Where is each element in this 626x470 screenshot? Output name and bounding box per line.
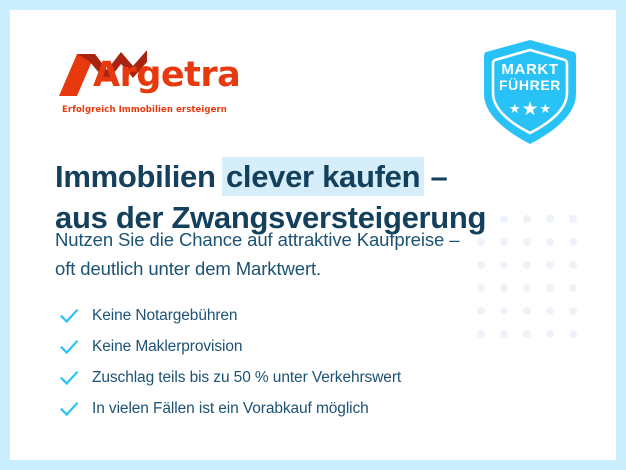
benefit-label: Zuschlag teils bis zu 50 % unter Verkehr… [92, 369, 401, 387]
headline-text-pre: Immobilien [55, 159, 224, 194]
benefits-list: Keine Notargebühren Keine Maklerprovisio… [58, 300, 401, 424]
decoration-dot [523, 261, 531, 269]
check-icon [58, 398, 80, 420]
decoration-dot [500, 307, 508, 315]
check-icon [58, 305, 80, 327]
decoration-dot [569, 215, 577, 223]
headline-highlight: clever kaufen [222, 157, 424, 196]
decoration-dot [500, 215, 508, 223]
market-leader-badge: MARKT FÜHRER ★★★ [482, 38, 578, 146]
decoration-dot [569, 238, 577, 246]
decoration-dot [546, 284, 554, 292]
decoration-dot [569, 261, 577, 269]
badge-star-large-center: ★ [521, 99, 538, 120]
benefit-label: Keine Maklerprovision [92, 338, 242, 356]
banner-frame: Argetra Erfolgreich Immobilien ersteiger… [0, 0, 626, 470]
decoration-dot [523, 238, 531, 246]
decoration-dot [569, 307, 577, 315]
decoration-dot [523, 215, 531, 223]
decoration-dot [569, 330, 577, 338]
benefit-label: In vielen Fällen ist ein Vorabkauf mögli… [92, 400, 369, 418]
headline-line-1: Immobilien clever kaufen – [55, 157, 486, 198]
badge-text: MARKT FÜHRER [482, 62, 578, 92]
decoration-dot [500, 284, 508, 292]
decoration-dot [477, 284, 485, 292]
list-item: Keine Maklerprovision [58, 331, 401, 362]
decoration-dot [477, 330, 485, 338]
list-item: In vielen Fällen ist ein Vorabkauf mögli… [58, 393, 401, 424]
decoration-dot [477, 238, 485, 246]
decoration-dot [523, 307, 531, 315]
check-icon [58, 367, 80, 389]
list-item: Keine Notargebühren [58, 300, 401, 331]
list-item: Zuschlag teils bis zu 50 % unter Verkehr… [58, 362, 401, 393]
subheadline: Nutzen Sie die Chance auf attraktive Kau… [55, 226, 459, 283]
headline-text-post: – [422, 159, 447, 194]
decoration-dot [546, 330, 554, 338]
subheadline-line-1: Nutzen Sie die Chance auf attraktive Kau… [55, 226, 459, 255]
badge-stars: ★★★ [482, 100, 578, 119]
decoration-dot [546, 238, 554, 246]
argetra-logo[interactable]: Argetra Erfolgreich Immobilien ersteiger… [55, 48, 255, 98]
decoration-dot [546, 261, 554, 269]
banner-canvas: Argetra Erfolgreich Immobilien ersteiger… [10, 10, 616, 460]
subheadline-line-2: oft deutlich unter dem Marktwert. [55, 255, 459, 284]
logo-wordmark: Argetra [93, 58, 240, 93]
check-icon [58, 336, 80, 358]
decoration-dot [500, 238, 508, 246]
decoration-dot [500, 330, 508, 338]
benefit-label: Keine Notargebühren [92, 307, 237, 325]
badge-line-1: MARKT [482, 62, 578, 78]
decoration-dot [569, 284, 577, 292]
badge-star-small-right: ★ [540, 101, 552, 116]
decoration-dot [523, 330, 531, 338]
decoration-dot [477, 307, 485, 315]
decoration-dot [546, 307, 554, 315]
logo-mark-row: Argetra [55, 48, 255, 98]
decoration-dot [546, 215, 554, 223]
logo-tagline: Erfolgreich Immobilien ersteigern [62, 105, 227, 115]
decoration-dot [523, 284, 531, 292]
badge-line-2: FÜHRER [482, 78, 578, 93]
decoration-dot [500, 261, 508, 269]
badge-star-small-left: ★ [509, 101, 521, 116]
dot-grid-decoration [477, 215, 592, 353]
decoration-dot [477, 261, 485, 269]
